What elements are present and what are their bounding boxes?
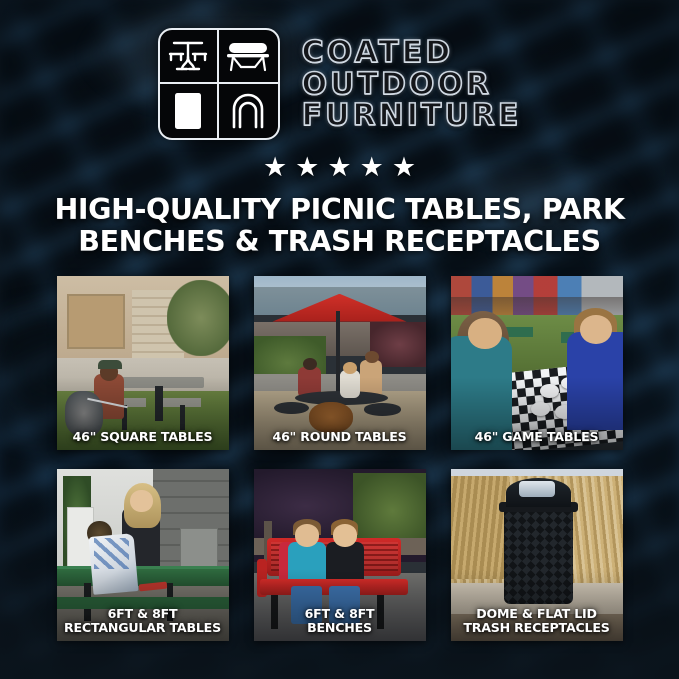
product-card-trash-receptacles[interactable]: DOME & FLAT LID TRASH RECEPTACLES <box>451 469 623 641</box>
wordmark-line-1: COATED <box>302 38 522 69</box>
product-grid: 46" SQUARE TABLES <box>57 276 623 641</box>
product-caption: 6FT & 8FT BENCHES <box>254 607 426 634</box>
product-photo-round-tables <box>254 276 426 450</box>
product-caption: 46" GAME TABLES <box>451 430 623 444</box>
star-icon-3: ★ <box>327 154 351 181</box>
product-card-square-tables[interactable]: 46" SQUARE TABLES <box>57 276 229 450</box>
product-caption: 6FT & 8FT RECTANGULAR TABLES <box>57 607 229 634</box>
wordmark-line-2: OUTDOOR <box>302 70 522 101</box>
star-icon-1: ★ <box>263 154 287 181</box>
promo-banner: COATED OUTDOOR FURNITURE ★ ★ ★ ★ ★ HIGH-… <box>0 0 679 679</box>
product-photo-game-tables <box>451 276 623 450</box>
park-bench-icon <box>219 30 278 84</box>
headline: HIGH-QUALITY PICNIC TABLES, PARK BENCHES… <box>54 194 624 258</box>
picnic-table-icon <box>160 30 219 84</box>
product-caption: 46" ROUND TABLES <box>254 430 426 444</box>
product-caption: 46" SQUARE TABLES <box>57 430 229 444</box>
star-icon-5: ★ <box>392 154 416 181</box>
brand-wordmark: COATED OUTDOOR FURNITURE <box>302 38 522 132</box>
product-caption: DOME & FLAT LID TRASH RECEPTACLES <box>451 607 623 634</box>
product-card-round-tables[interactable]: 46" ROUND TABLES <box>254 276 426 450</box>
logo-mark-grid <box>158 28 280 140</box>
star-icon-4: ★ <box>360 154 384 181</box>
banner-content: COATED OUTDOOR FURNITURE ★ ★ ★ ★ ★ HIGH-… <box>0 0 679 679</box>
product-card-rectangular-tables[interactable]: 6FT & 8FT RECTANGULAR TABLES <box>57 469 229 641</box>
star-icon-2: ★ <box>295 154 319 181</box>
product-card-benches[interactable]: 6FT & 8FT BENCHES <box>254 469 426 641</box>
headline-line-1: HIGH-QUALITY PICNIC TABLES, PARK <box>54 193 624 226</box>
product-card-game-tables[interactable]: 46" GAME TABLES <box>451 276 623 450</box>
brand-logo: COATED OUTDOOR FURNITURE <box>158 28 522 140</box>
star-rating: ★ ★ ★ ★ ★ <box>263 154 416 181</box>
bike-rack-icon <box>219 84 278 138</box>
headline-line-2: BENCHES & TRASH RECEPTACLES <box>54 226 624 258</box>
trash-receptacle-icon <box>160 84 219 138</box>
wordmark-line-3: FURNITURE <box>302 101 522 132</box>
product-photo-square-tables <box>57 276 229 450</box>
